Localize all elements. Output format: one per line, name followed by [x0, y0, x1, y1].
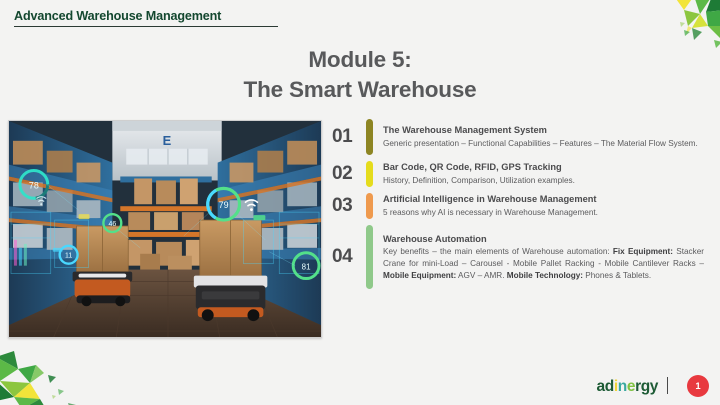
agenda-item-body: Key benefits – the main elements of Ware…: [383, 246, 704, 281]
agenda-item-text: The Warehouse Management System Generic …: [383, 124, 704, 149]
agenda-item-number: 04: [332, 246, 366, 268]
agenda-item-03[interactable]: 03 Artificial Intelligence in Warehouse …: [332, 193, 704, 219]
logo-part-4: rgy: [635, 378, 658, 395]
agenda-item-heading: Artificial Intelligence in Warehouse Man…: [383, 193, 704, 206]
agenda-item-04[interactable]: 04 Warehouse Automation Key benefits – t…: [332, 225, 704, 289]
slide-header: Advanced Warehouse Management: [14, 9, 280, 27]
agenda-item-heading: Bar Code, QR Code, RFID, GPS Tracking: [383, 161, 704, 174]
agenda-item-heading: Warehouse Automation: [383, 233, 704, 246]
page-title-line-1: Module 5:: [0, 45, 720, 75]
agenda-item-01[interactable]: 01 The Warehouse Management System Gener…: [332, 119, 704, 155]
agenda-item-color-bar: [366, 225, 373, 289]
agenda-item-number: 02: [332, 163, 366, 185]
footer-divider: [667, 377, 668, 394]
agenda-item-number: 03: [332, 195, 366, 217]
svg-text:E: E: [163, 133, 172, 148]
agenda-item-number: 01: [332, 126, 366, 148]
logo-part-2: n: [618, 378, 627, 395]
logo-part-3: e: [627, 378, 635, 395]
agv-robot-right: [194, 220, 268, 321]
agenda-item-color-bar: [366, 161, 373, 187]
agenda-item-text: Artificial Intelligence in Warehouse Man…: [383, 193, 704, 218]
agenda-item-02[interactable]: 02 Bar Code, QR Code, RFID, GPS Tracking…: [332, 161, 704, 187]
agenda-item-text: Warehouse Automation Key benefits – the …: [383, 233, 704, 281]
svg-text:46: 46: [108, 221, 116, 228]
warehouse-photo: E: [8, 120, 322, 338]
page-number-badge: 1: [687, 375, 709, 397]
agenda-item-color-bar: [366, 193, 373, 219]
agenda-list: 01 The Warehouse Management System Gener…: [332, 119, 704, 289]
svg-text:11: 11: [65, 253, 72, 260]
agenda-item-heading: The Warehouse Management System: [383, 124, 704, 137]
agenda-item-body: Generic presentation – Functional Capabi…: [383, 138, 704, 150]
agenda-item-text: Bar Code, QR Code, RFID, GPS Tracking Hi…: [383, 161, 704, 186]
slide-root: Advanced Warehouse Management Module 5: …: [0, 0, 720, 405]
page-title: Module 5: The Smart Warehouse: [0, 45, 720, 104]
svg-text:79: 79: [219, 200, 229, 210]
svg-text:78: 78: [29, 180, 39, 190]
logo-part-0: ad: [597, 378, 614, 395]
adinergy-logo[interactable]: adinergy: [597, 379, 658, 395]
svg-text:81: 81: [302, 263, 311, 272]
header-title: Advanced Warehouse Management: [14, 9, 280, 23]
agv-robot-left: [73, 226, 133, 306]
decoration-bottom-left: [0, 351, 92, 405]
warehouse-photo-illustration: E: [9, 121, 321, 337]
header-underline: [14, 26, 278, 27]
agenda-item-body: History, Definition, Comparison, Utiliza…: [383, 175, 704, 187]
page-title-line-2: The Smart Warehouse: [0, 75, 720, 105]
agenda-item-color-bar: [366, 119, 373, 155]
agenda-item-body: 5 reasons why AI is necessary in Warehou…: [383, 207, 704, 219]
